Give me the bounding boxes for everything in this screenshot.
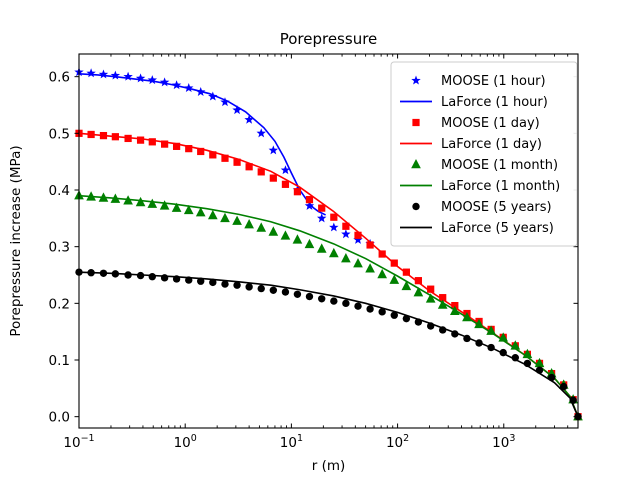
marker-circle [318,295,325,302]
legend-label: MOOSE (1 day) [441,116,540,131]
x-tick-label: 100 [174,433,197,451]
chart-title: Porepressure [280,30,378,48]
x-tick-label: 10−1 [63,433,94,451]
y-tick-label: 0.5 [49,126,70,142]
legend-label: LaForce (1 month) [441,179,560,194]
marker-circle [366,305,373,312]
x-axis-label: r (m) [312,458,346,474]
chart-legend[interactable]: MOOSE (1 hour)LaForce (1 hour)MOOSE (1 d… [391,62,577,246]
y-axis-label: Porepressure increase (MPa) [8,145,24,336]
marker-circle [282,288,289,295]
marker-circle [306,293,313,300]
marker-square [306,196,313,203]
marker-square [282,181,289,188]
legend-label: MOOSE (1 hour) [441,74,546,89]
legend-label: LaForce (1 hour) [441,95,548,110]
x-tick-label: 103 [492,433,515,451]
y-tick-label: 0.3 [49,240,70,256]
x-tick-label: 101 [280,433,303,451]
chart-svg: 10−11001011021030.00.10.20.30.40.50.6Por… [0,0,640,480]
marker-square [412,119,419,126]
marker-circle [330,297,337,304]
legend-label: LaForce (1 day) [441,137,542,152]
marker-circle [245,283,252,290]
y-tick-label: 0.1 [49,353,70,369]
marker-circle [342,300,349,307]
marker-square [270,174,277,181]
figure-canvas: 10−11001011021030.00.10.20.30.40.50.6Por… [0,0,640,480]
legend-label: MOOSE (5 years) [441,200,552,215]
marker-circle [258,285,265,292]
y-tick-label: 0.6 [49,70,70,86]
marker-circle [412,203,419,210]
y-tick-label: 0.2 [49,296,70,312]
y-tick-label: 0.0 [49,410,70,426]
marker-circle [270,287,277,294]
marker-circle [354,302,361,309]
y-tick-label: 0.4 [49,183,70,199]
x-tick-label: 102 [386,433,409,451]
legend-label: MOOSE (1 month) [441,158,558,173]
legend-label: LaForce (5 years) [441,221,554,236]
marker-square [294,188,301,195]
marker-circle [149,273,156,280]
marker-square [137,137,144,144]
legend-background [391,62,577,246]
marker-circle [294,291,301,298]
